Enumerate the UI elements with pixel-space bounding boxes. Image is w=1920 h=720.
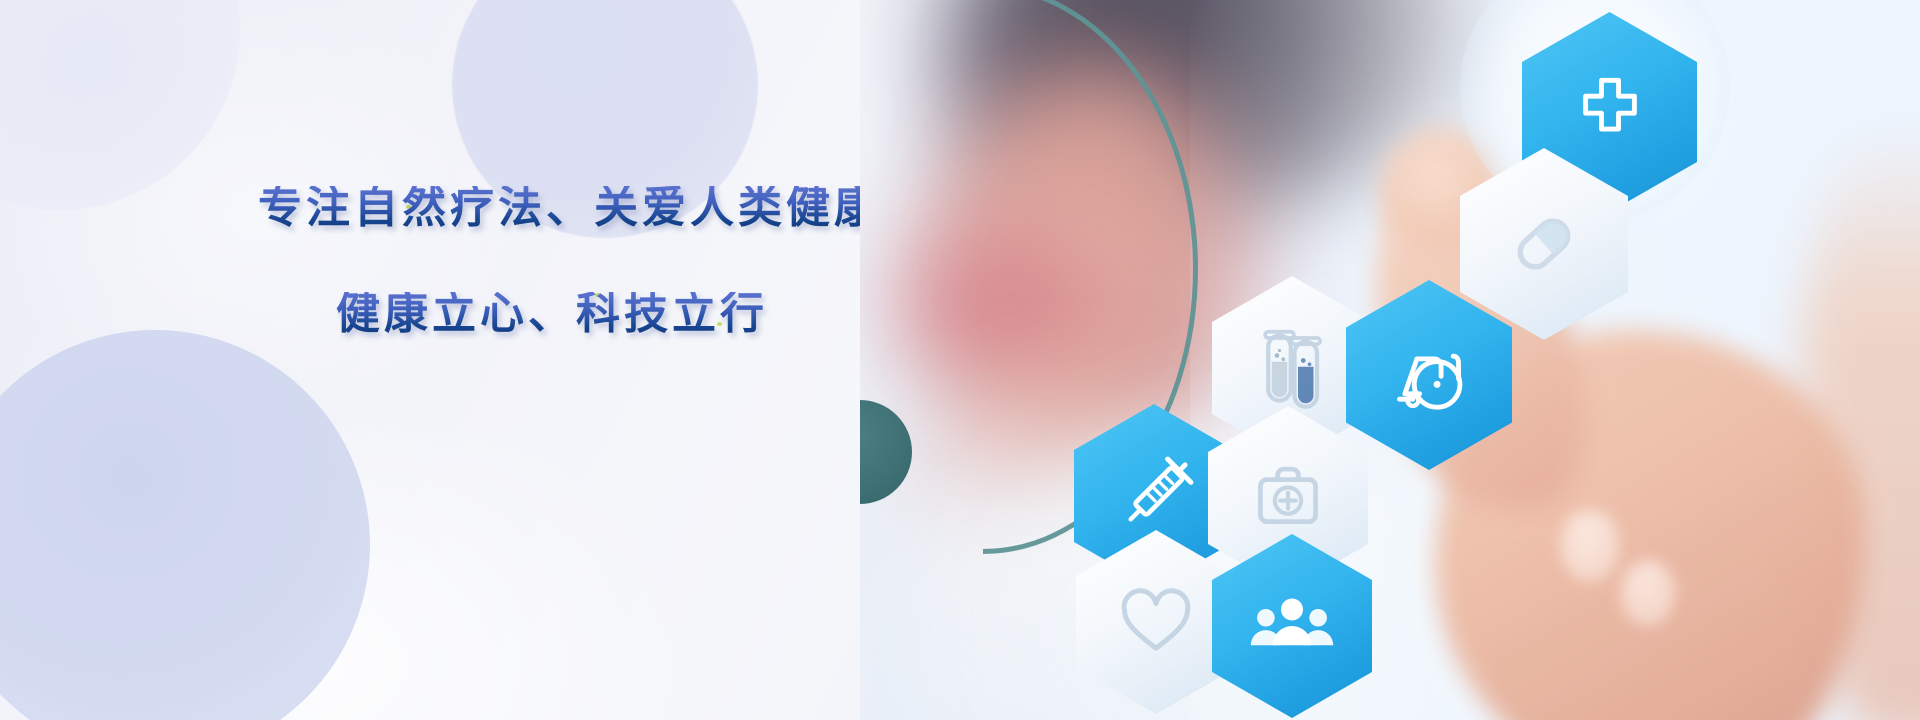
pill-capsule-icon bbox=[1501, 201, 1587, 287]
medical-cross-icon bbox=[1571, 73, 1649, 151]
wheelchair-icon bbox=[1386, 332, 1472, 418]
test-tube-icon bbox=[1252, 324, 1332, 412]
headline-line-1: 专注自然疗法、关爱人类健康 bbox=[258, 186, 898, 230]
bottom-fade bbox=[860, 692, 1920, 720]
headline-line-2: 健康立心、科技立行 bbox=[336, 292, 898, 336]
hero-banner: 专注自然疗法、关爱人类健康 健康立心、科技立行 bbox=[0, 0, 1920, 720]
hexagon-wheelchair[interactable] bbox=[1346, 280, 1512, 470]
syringe-icon bbox=[1110, 452, 1198, 540]
heart-icon bbox=[1114, 580, 1198, 664]
medical-bag-icon bbox=[1246, 456, 1330, 540]
hexagon-people-group[interactable] bbox=[1212, 534, 1372, 718]
headline-block: 专注自然疗法、关爱人类健康 健康立心、科技立行 bbox=[258, 186, 898, 336]
hero-photo bbox=[860, 0, 1920, 720]
hexagon-cluster bbox=[860, 0, 1920, 720]
people-group-icon bbox=[1248, 582, 1336, 670]
